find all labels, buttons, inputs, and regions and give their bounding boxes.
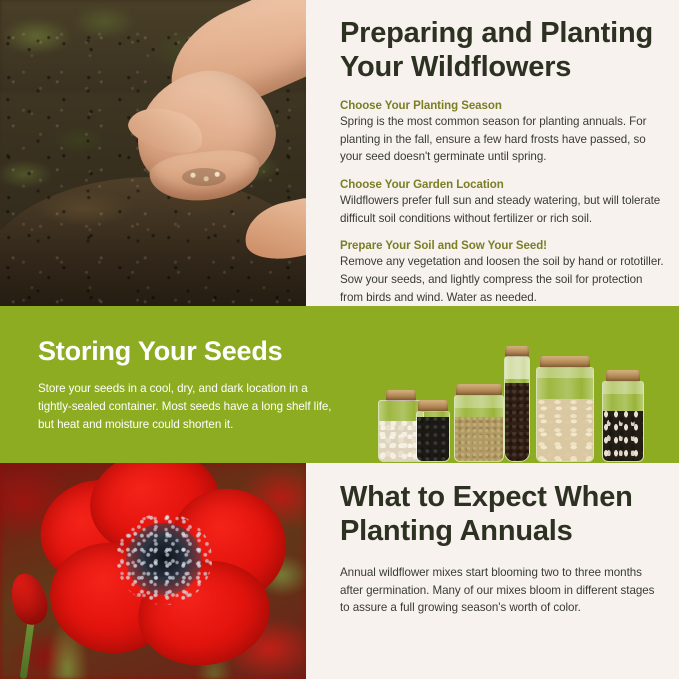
- prepare-soil-subheading: Prepare Your Soil and Sow Your Seed!: [340, 240, 667, 252]
- storing-body: Store your seeds in a cool, dry, and dar…: [38, 380, 338, 434]
- expect-body: Annual wildflower mixes start blooming t…: [340, 564, 661, 617]
- glass-body: [416, 411, 450, 462]
- wildflower-planting-infographic: Preparing and Planting Your Wildflowers …: [0, 0, 679, 679]
- dark-seed-fill: [505, 383, 529, 461]
- jar-black-seeds: [416, 400, 450, 462]
- jar-tan-seeds: [454, 384, 504, 462]
- planting-season-subheading: Choose Your Planting Season: [340, 100, 667, 112]
- glass-body: [504, 356, 530, 462]
- black-seed-fill: [417, 417, 449, 461]
- planting-season-block: Choose Your Planting Season Spring is th…: [340, 100, 667, 166]
- jar-neck-band: [455, 396, 503, 408]
- poppy-stamens: [116, 513, 212, 605]
- glass-body: [536, 367, 594, 462]
- preparing-text-panel: Preparing and Planting Your Wildflowers …: [306, 0, 679, 306]
- glass-body: [454, 395, 504, 462]
- hand-sowing-seeds-in-soil-photo: [0, 0, 306, 306]
- jar-sunflower-seeds: [602, 370, 644, 462]
- expect-text-panel: What to Expect When Planting Annuals Ann…: [306, 463, 679, 679]
- jar-neck-band: [537, 368, 593, 378]
- jar-flake-seeds: [536, 356, 594, 462]
- jar-neck-band: [603, 382, 643, 394]
- poppy-bloom: [44, 465, 286, 671]
- red-poppy-flower-photo: [0, 463, 306, 679]
- seed-storage-jars-photo: [372, 322, 672, 462]
- prepare-soil-block: Prepare Your Soil and Sow Your Seed! Rem…: [340, 240, 667, 306]
- preparing-heading: Preparing and Planting Your Wildflowers: [340, 17, 667, 84]
- flake-seed-fill: [537, 399, 593, 461]
- planting-season-body: Spring is the most common season for pla…: [340, 113, 667, 166]
- jar-neck-band: [505, 357, 529, 379]
- seeds-in-hand: [182, 168, 226, 186]
- garden-location-body: Wildflowers prefer full sun and steady w…: [340, 192, 667, 227]
- prepare-soil-body: Remove any vegetation and loosen the soi…: [340, 253, 667, 306]
- expect-heading: What to Expect When Planting Annuals: [340, 481, 661, 548]
- jar-tall-dark-seeds: [504, 346, 530, 462]
- glass-body: [602, 381, 644, 462]
- tan-seed-fill: [455, 417, 503, 461]
- preparing-and-planting-section: Preparing and Planting Your Wildflowers …: [0, 0, 679, 306]
- what-to-expect-section: What to Expect When Planting Annuals Ann…: [0, 463, 679, 679]
- storing-heading: Storing Your Seeds: [38, 336, 338, 367]
- sunflower-seed-fill: [603, 411, 643, 461]
- garden-location-block: Choose Your Garden Location Wildflowers …: [340, 179, 667, 227]
- hand-shape: [82, 2, 306, 242]
- garden-location-subheading: Choose Your Garden Location: [340, 179, 667, 191]
- storing-text-panel: Storing Your Seeds Store your seeds in a…: [38, 336, 338, 435]
